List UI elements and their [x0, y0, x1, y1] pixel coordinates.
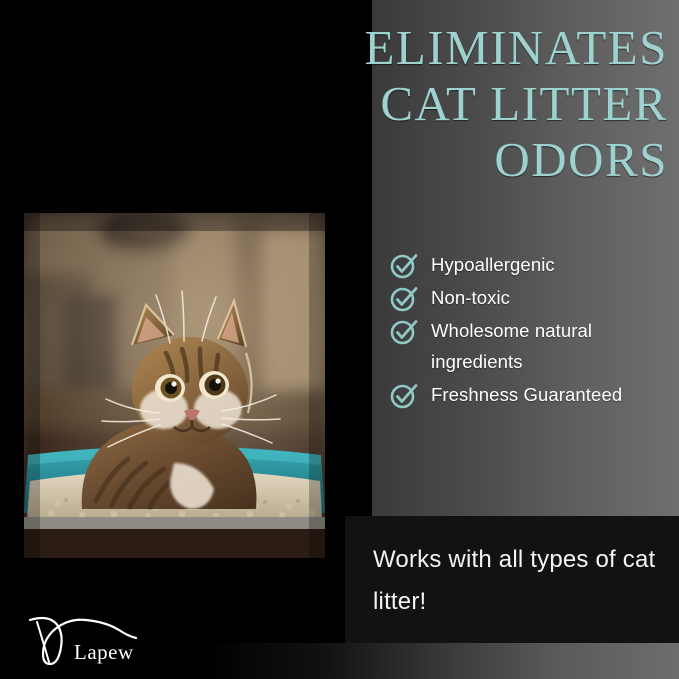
- feature-label: Hypoallergenic: [431, 249, 555, 280]
- headline-line-3: ODORS: [248, 132, 668, 188]
- list-item: Freshness Guaranteed: [389, 379, 674, 410]
- feature-list: Hypoallergenic Non-toxic Wholesome natur…: [389, 249, 674, 412]
- check-circle-icon: [389, 283, 419, 313]
- headline-line-2: CAT LITTER: [248, 76, 668, 132]
- feature-label: Non-toxic: [431, 282, 510, 313]
- callout-text: Works with all types of cat litter!: [373, 539, 663, 623]
- brand-wordmark: Lapew: [74, 640, 134, 665]
- check-circle-icon: [389, 380, 419, 410]
- list-item: Wholesome natural ingredients: [389, 315, 674, 377]
- list-item: Non-toxic: [389, 282, 674, 313]
- check-circle-icon: [389, 316, 419, 346]
- check-circle-icon: [389, 250, 419, 280]
- brand-logo: Lapew: [24, 612, 164, 670]
- list-item: Hypoallergenic: [389, 249, 674, 280]
- headline-line-1: ELIMINATES: [248, 20, 668, 76]
- product-photo: [24, 213, 325, 558]
- kitten-photo-illustration: [24, 213, 325, 558]
- advertisement-canvas: ELIMINATES CAT LITTER ODORS: [0, 0, 679, 679]
- callout-box: Works with all types of cat litter!: [345, 516, 679, 643]
- feature-label: Freshness Guaranteed: [431, 379, 622, 410]
- headline: ELIMINATES CAT LITTER ODORS: [248, 20, 668, 188]
- feature-label: Wholesome natural ingredients: [431, 315, 674, 377]
